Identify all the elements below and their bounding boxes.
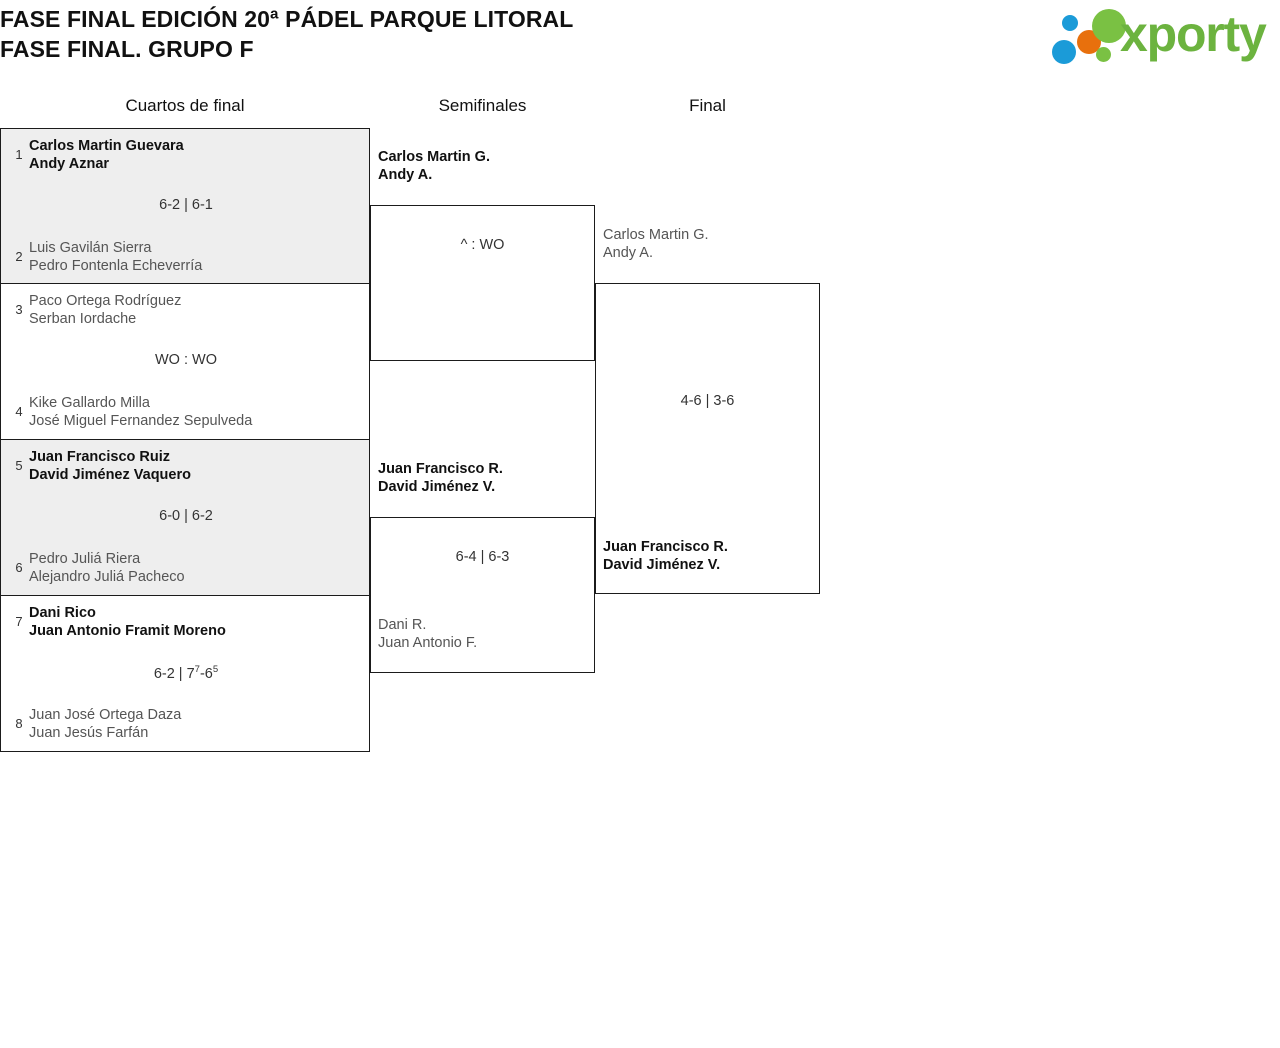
team-players: Pedro Juliá Riera Alejandro Juliá Pachec… xyxy=(29,550,371,586)
semifinal-1-team-top[interactable]: Carlos Martin G. Andy A. xyxy=(378,148,598,184)
match-quarterfinal-4[interactable]: 7 Dani Rico Juan Antonio Framit Moreno 6… xyxy=(0,596,370,752)
seed-number: 3 xyxy=(9,292,29,328)
seed-number: 8 xyxy=(9,706,29,742)
match-semifinal-1-connector xyxy=(370,205,595,361)
team-players: Paco Ortega Rodríguez Serban Iordache xyxy=(29,292,371,328)
semifinal-2-team-bottom[interactable]: Dani R. Juan Antonio F. xyxy=(378,616,598,652)
player-name: Andy Aznar xyxy=(29,155,371,173)
player-name: Carlos Martin Guevara xyxy=(29,137,371,155)
match-team-top[interactable]: 1 Carlos Martin Guevara Andy Aznar xyxy=(1,137,371,173)
player-name: Dani Rico xyxy=(29,604,371,622)
player-name: David Jiménez V. xyxy=(378,478,598,496)
player-name: Andy A. xyxy=(603,244,823,262)
team-players: Luis Gavilán Sierra Pedro Fontenla Echev… xyxy=(29,239,371,275)
player-name: Luis Gavilán Sierra xyxy=(29,239,371,257)
player-name: David Jiménez V. xyxy=(603,556,823,574)
match-quarterfinal-2[interactable]: 3 Paco Ortega Rodríguez Serban Iordache … xyxy=(0,284,370,440)
team-players: Juan Francisco Ruiz David Jiménez Vaquer… xyxy=(29,448,371,484)
seed-number: 4 xyxy=(9,394,29,430)
player-name: Kike Gallardo Milla xyxy=(29,394,371,412)
player-name: David Jiménez Vaquero xyxy=(29,466,371,484)
player-name: Dani R. xyxy=(378,616,598,634)
match-quarterfinal-3[interactable]: 5 Juan Francisco Ruiz David Jiménez Vaqu… xyxy=(0,440,370,596)
match-score: WO : WO xyxy=(1,352,371,368)
final-team-bottom-champion[interactable]: Juan Francisco R. David Jiménez V. xyxy=(603,538,823,574)
player-name: Carlos Martin G. xyxy=(603,226,823,244)
match-score: 6-0 | 6-2 xyxy=(1,508,371,524)
player-name: Juan Antonio F. xyxy=(378,634,598,652)
score-mid: -6 xyxy=(200,666,213,682)
player-name: Serban Iordache xyxy=(29,310,371,328)
player-name: Pedro Juliá Riera xyxy=(29,550,371,568)
match-team-top[interactable]: 3 Paco Ortega Rodríguez Serban Iordache xyxy=(1,292,371,328)
player-name: Juan Francisco Ruiz xyxy=(29,448,371,466)
semifinal-2-team-top[interactable]: Juan Francisco R. David Jiménez V. xyxy=(378,460,598,496)
player-name: Alejandro Juliá Pacheco xyxy=(29,568,371,586)
player-name: Juan Francisco R. xyxy=(603,538,823,556)
player-name: Andy A. xyxy=(378,166,598,184)
player-name: Juan José Ortega Daza xyxy=(29,706,371,724)
semifinal-2-score: 6-4 | 6-3 xyxy=(370,549,595,565)
final-score: 4-6 | 3-6 xyxy=(595,393,820,409)
match-score: 6-2 | 6-1 xyxy=(1,197,371,213)
seed-number: 1 xyxy=(9,137,29,173)
seed-number: 7 xyxy=(9,604,29,640)
player-name: Pedro Fontenla Echeverría xyxy=(29,257,371,275)
player-name: Juan Antonio Framit Moreno xyxy=(29,622,371,640)
seed-number: 6 xyxy=(9,550,29,586)
player-name: Juan Francisco R. xyxy=(378,460,598,478)
player-name: Juan Jesús Farfán xyxy=(29,724,371,742)
match-score: 6-2 | 77-65 xyxy=(1,664,371,682)
match-team-bottom[interactable]: 2 Luis Gavilán Sierra Pedro Fontenla Ech… xyxy=(1,239,371,275)
final-team-top[interactable]: Carlos Martin G. Andy A. xyxy=(603,226,823,262)
tournament-bracket: 1 Carlos Martin Guevara Andy Aznar 6-2 |… xyxy=(0,0,1280,1048)
score-tiebreak-bottom: 5 xyxy=(213,664,218,675)
player-name: Paco Ortega Rodríguez xyxy=(29,292,371,310)
match-team-bottom[interactable]: 8 Juan José Ortega Daza Juan Jesús Farfá… xyxy=(1,706,371,742)
semifinal-1-score: ^ : WO xyxy=(370,237,595,253)
match-quarterfinal-1[interactable]: 1 Carlos Martin Guevara Andy Aznar 6-2 |… xyxy=(0,128,370,284)
team-players: Juan José Ortega Daza Juan Jesús Farfán xyxy=(29,706,371,742)
player-name: Carlos Martin G. xyxy=(378,148,598,166)
team-players: Carlos Martin Guevara Andy Aznar xyxy=(29,137,371,173)
match-team-bottom[interactable]: 4 Kike Gallardo Milla José Miguel Fernan… xyxy=(1,394,371,430)
seed-number: 5 xyxy=(9,448,29,484)
match-team-top[interactable]: 5 Juan Francisco Ruiz David Jiménez Vaqu… xyxy=(1,448,371,484)
team-players: Dani Rico Juan Antonio Framit Moreno xyxy=(29,604,371,640)
player-name: José Miguel Fernandez Sepulveda xyxy=(29,412,371,430)
seed-number: 2 xyxy=(9,239,29,275)
team-players: Kike Gallardo Milla José Miguel Fernande… xyxy=(29,394,371,430)
score-main: 6-2 | 7 xyxy=(154,666,195,682)
match-team-bottom[interactable]: 6 Pedro Juliá Riera Alejandro Juliá Pach… xyxy=(1,550,371,586)
match-team-top[interactable]: 7 Dani Rico Juan Antonio Framit Moreno xyxy=(1,604,371,640)
